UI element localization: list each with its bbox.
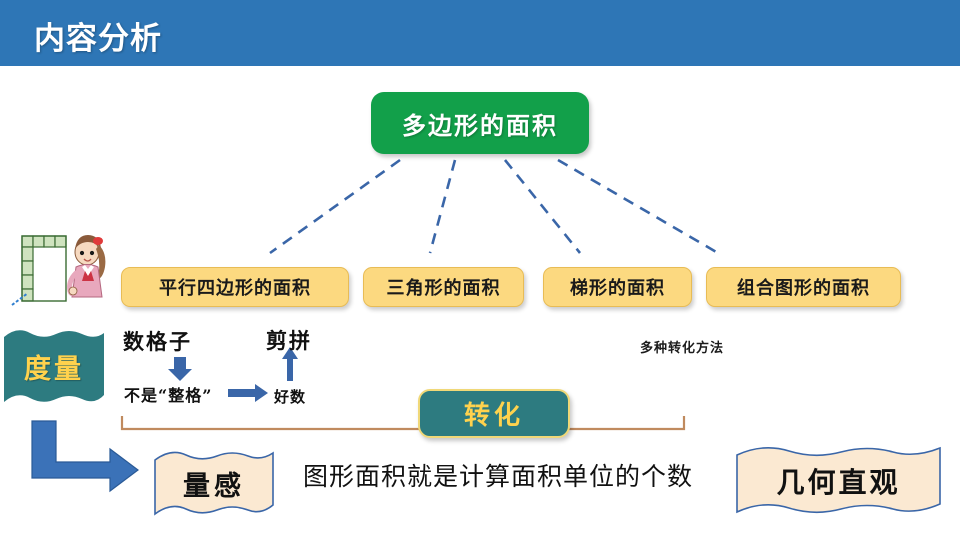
slide-canvas: 内容分析: [0, 0, 960, 540]
connector-line-3: [505, 160, 580, 253]
convert-node[interactable]: 转化: [418, 389, 570, 438]
annotation-not-whole-grid: 不是“整格”: [124, 382, 212, 406]
topic-box-composite[interactable]: 组合图形的面积: [706, 267, 901, 307]
page-title: 内容分析: [34, 13, 162, 58]
banner-measure-label: 度量: [2, 325, 106, 407]
banner-geometric-intuition-label: 几何直观: [733, 443, 944, 518]
annotation-multiple-methods: 多种转化方法: [640, 337, 724, 356]
arrow-down-count: [168, 357, 192, 381]
annotation-good-number: 好数: [274, 386, 306, 407]
banner-sense-label: 量感: [152, 447, 276, 519]
convert-node-label: 转化: [464, 395, 524, 432]
topic-label: 平行四边形的面积: [159, 274, 311, 300]
connector-line-1: [270, 160, 400, 253]
topic-box-parallelogram[interactable]: 平行四边形的面积: [121, 267, 349, 307]
elbow-arrow-measure-to-sense: [32, 421, 138, 491]
connector-line-2: [430, 160, 455, 253]
annotation-count-grids: 数格子: [123, 326, 192, 356]
topic-label: 三角形的面积: [387, 274, 501, 300]
topic-box-triangle[interactable]: 三角形的面积: [363, 267, 524, 307]
scope-bracket: [122, 416, 684, 429]
annotation-cut-and-paste: 剪拼: [266, 325, 312, 355]
connector-line-4: [558, 160, 718, 253]
topic-label: 组合图形的面积: [737, 274, 870, 300]
topic-label: 梯形的面积: [570, 274, 665, 300]
arrow-right-goodnum: [228, 384, 268, 402]
root-node-polygon-area[interactable]: 多边形的面积: [371, 92, 589, 154]
topic-box-trapezoid[interactable]: 梯形的面积: [543, 267, 692, 307]
bottom-statement: 图形面积就是计算面积单位的个数: [303, 457, 693, 493]
root-node-label: 多边形的面积: [402, 106, 558, 141]
area-grid-illustration: [6, 219, 110, 311]
